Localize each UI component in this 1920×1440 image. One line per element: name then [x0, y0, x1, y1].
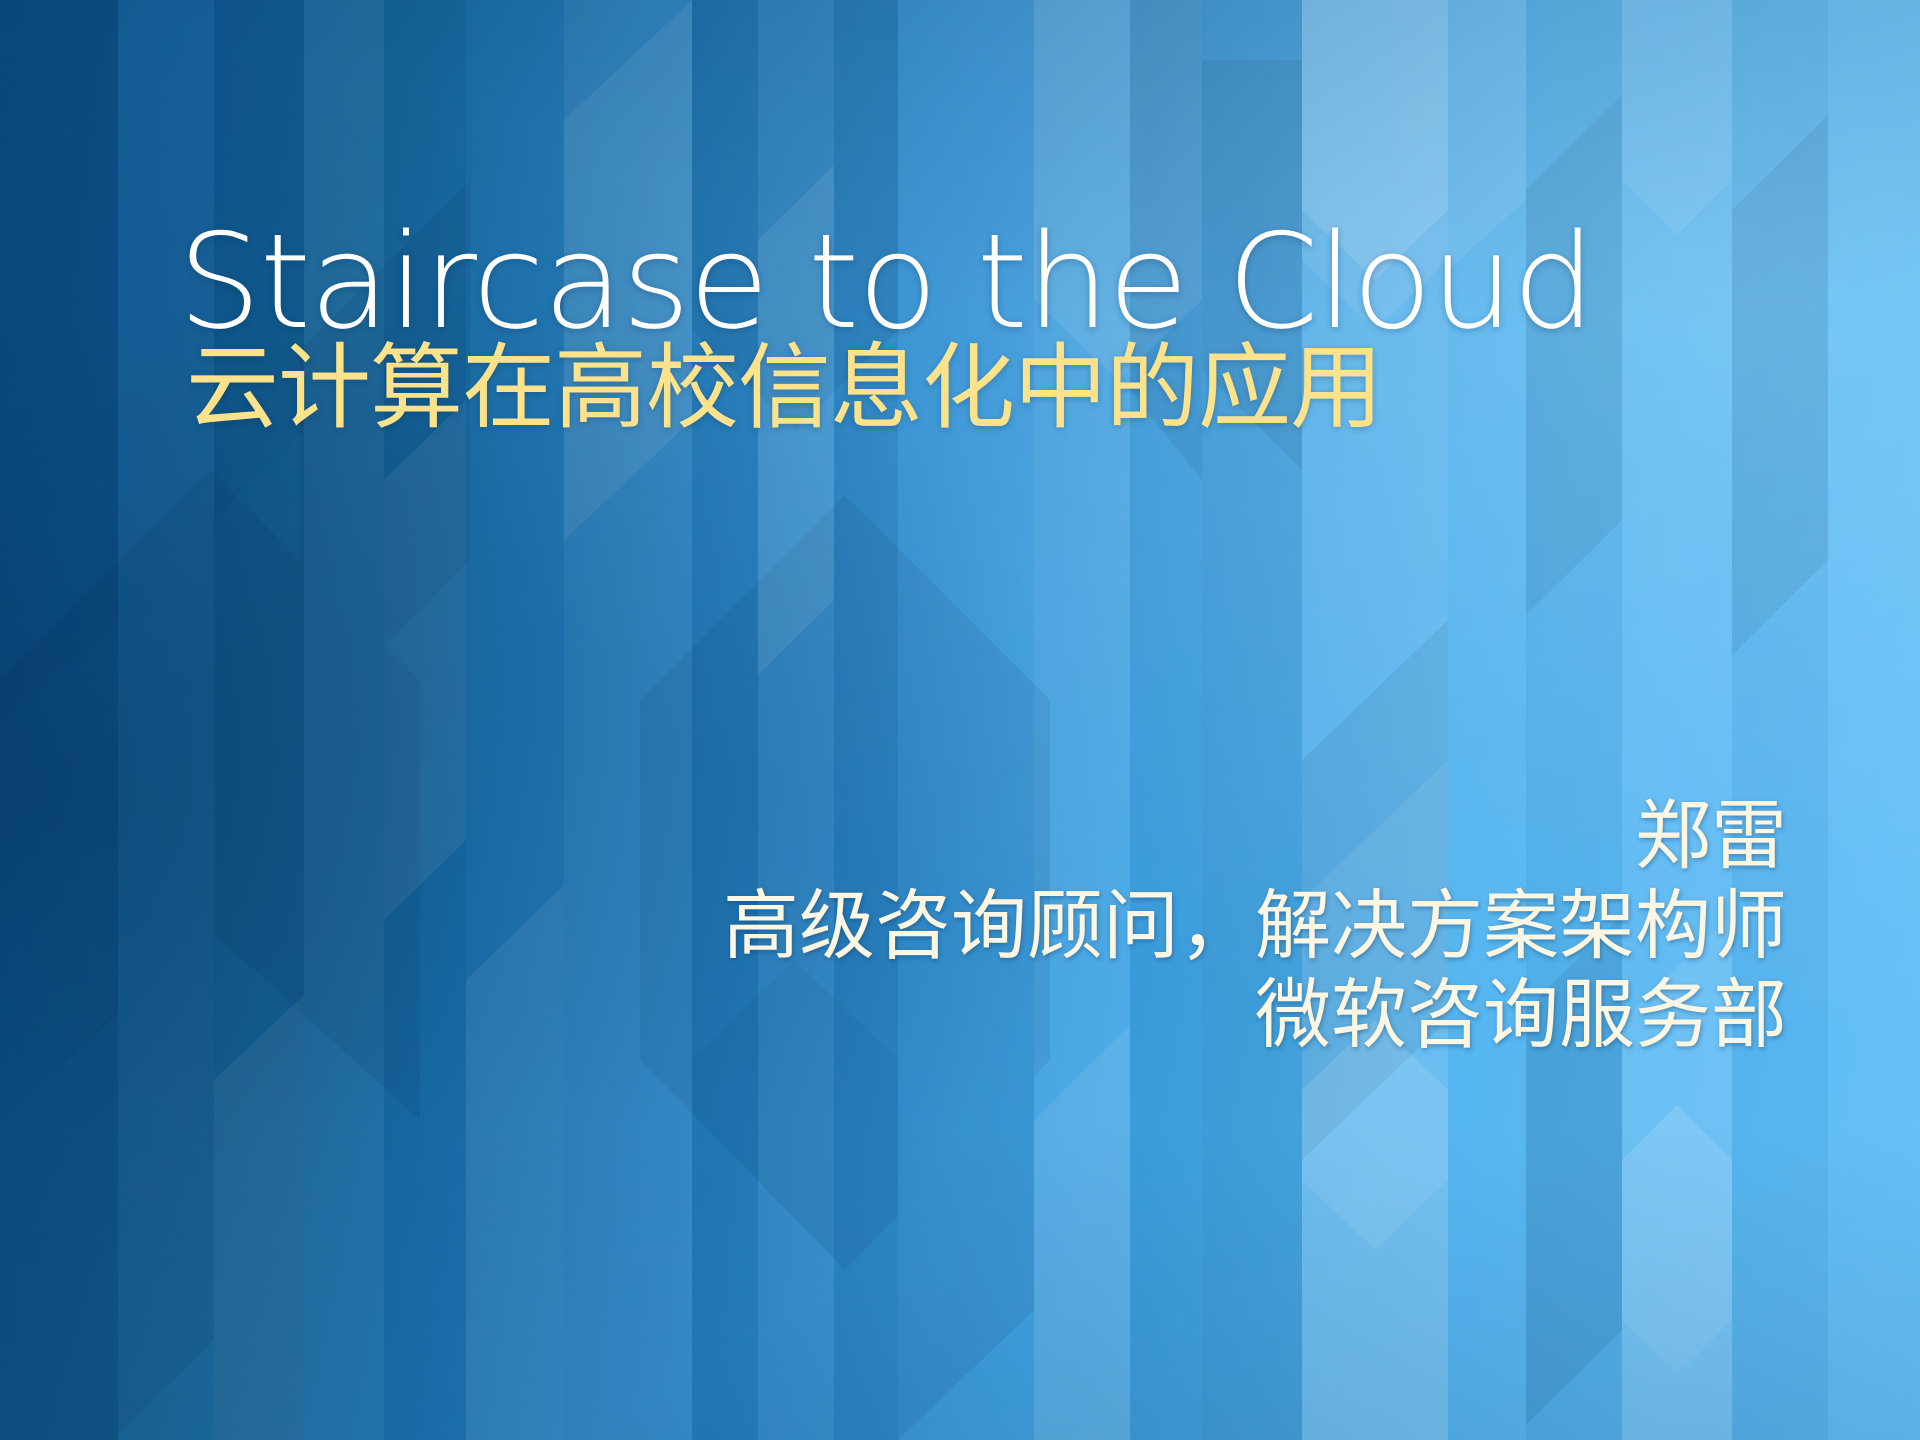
author-block: 郑雷 高级咨询顾问，解决方案架构师 微软咨询服务部	[723, 791, 1787, 1060]
title-block: Staircase to the Cloud 云计算在高校信息化中的应用	[178, 214, 1578, 440]
author-name: 郑雷	[723, 791, 1787, 881]
page-title: Staircase to the Cloud	[178, 214, 1578, 350]
author-organization: 微软咨询服务部	[723, 970, 1787, 1060]
author-role: 高级咨询顾问，解决方案架构师	[723, 881, 1787, 971]
title-slide: Staircase to the Cloud 云计算在高校信息化中的应用 郑雷 …	[0, 0, 1920, 1440]
page-subtitle: 云计算在高校信息化中的应用	[178, 336, 1578, 440]
